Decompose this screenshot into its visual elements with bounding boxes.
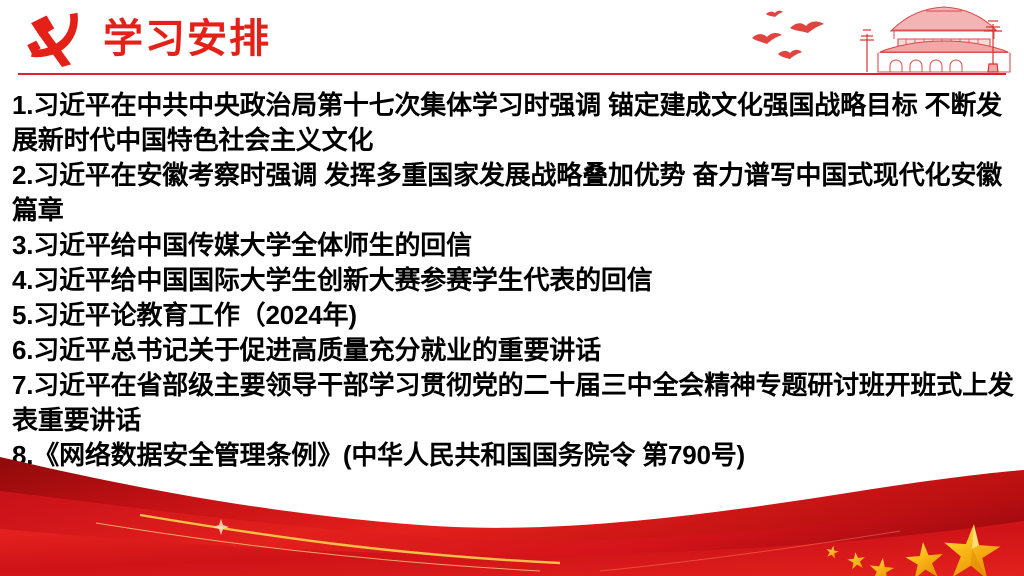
slide-header: 学习安排	[0, 0, 1024, 80]
list-item: 7.习近平在省部级主要领导干部学习贯彻党的二十届三中全会精神专题研讨班开班式上发…	[12, 368, 1022, 438]
hammer-and-sickle-emblem	[20, 9, 86, 67]
list-item: 3.习近平给中国传媒大学全体师生的回信	[12, 228, 1022, 263]
doves-group	[752, 11, 824, 59]
list-item: 1.习近平在中共中央政治局第十七次集体学习时强调 锚定建成文化强国战略目标 不断…	[12, 88, 1022, 158]
list-item: 6.习近平总书记关于促进高质量充分就业的重要讲话	[12, 333, 1022, 368]
tiananmen-gate-line-art	[694, 0, 1024, 78]
page-title: 学习安排	[103, 13, 271, 65]
slide-canvas: 学习安排	[0, 0, 1024, 576]
study-arrangement-list: 1.习近平在中共中央政治局第十七次集体学习时强调 锚定建成文化强国战略目标 不断…	[12, 88, 1022, 473]
list-item: 2.习近平在安徽考察时强调 发挥多重国家发展战略叠加优势 奋力谱写中国式现代化安…	[12, 158, 1022, 228]
header-divider	[18, 73, 1006, 75]
list-item: 5.习近平论教育工作（2024年)	[12, 298, 1022, 333]
red-silk-ribbon-decoration	[0, 451, 1024, 576]
list-item: 4.习近平给中国国际大学生创新大赛参赛学生代表的回信	[12, 263, 1022, 298]
